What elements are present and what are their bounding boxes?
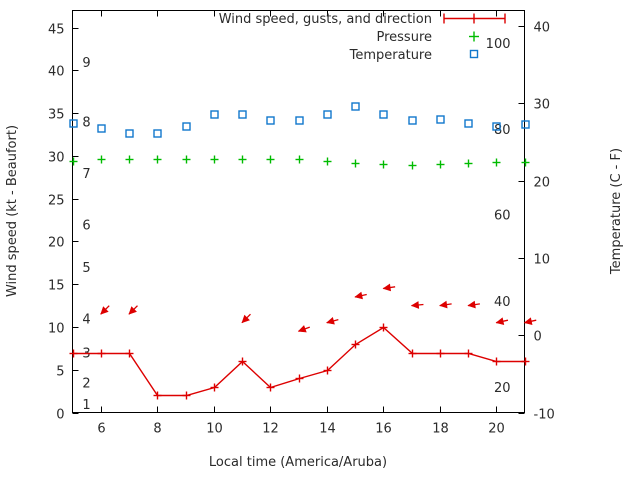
x-axis-title: Local time (America/Aruba) [209,455,387,470]
x-tick-label: 10 [206,422,223,437]
wind-speed-point [296,375,304,383]
fahrenheit-label: 40 [494,295,511,310]
wind-speed-series [70,324,530,400]
pressure-point [465,160,473,168]
wind-speed-point [465,350,473,358]
wind-direction-arrow [355,292,367,299]
fahrenheit-label: 100 [486,37,511,52]
temperature-point [98,125,105,132]
temperature-point [352,103,359,110]
y-left-tick-label: 35 [48,108,65,123]
beaufort-label: 6 [82,218,90,233]
beaufort-label: 2 [82,377,90,392]
temperature-point [183,123,190,130]
x-tick-label: 8 [153,422,161,437]
temperature-point [239,111,246,118]
temperature-point [154,130,161,137]
x-axis-ticks: 68101214161820 [97,11,504,437]
temperature-point [409,117,416,124]
temperature-point [126,130,133,137]
y-left-axis-ticks: 051015202530354045 [48,23,79,423]
pressure-point [126,156,134,164]
y-left-tick-label: 10 [48,322,65,337]
x-tick-label: 12 [262,422,279,437]
wind-speed-point [126,350,134,358]
pressure-point [183,156,191,164]
pressure-point [380,161,388,169]
y-right-tick-label: 10 [534,253,551,268]
beaufort-scale-labels: 123456789 [82,56,90,413]
wind-speed-point [154,392,162,400]
x-tick-label: 6 [97,422,105,437]
pressure-point [493,159,501,167]
wind-direction-arrow [412,302,424,309]
wind-direction-arrow [242,314,250,322]
beaufort-label: 9 [82,56,90,71]
wind-direction-arrow [468,301,480,308]
wind-direction-arrow [299,326,310,332]
pressure-point [409,162,417,170]
y-left-tick-label: 15 [48,279,65,294]
legend-marker-temperature [471,51,478,58]
y-left-tick-label: 0 [56,408,64,423]
wind-direction-arrow [129,306,137,314]
temperature-point [211,111,218,118]
wind-speed-point [70,350,78,358]
pressure-point [522,159,530,167]
x-tick-label: 20 [488,422,505,437]
pressure-point [352,160,360,168]
y-left-tick-label: 45 [48,23,65,38]
y-left-tick-label: 40 [48,65,65,80]
beaufort-label: 4 [82,312,90,327]
wind-speed-line [74,328,526,396]
beaufort-label: 7 [82,167,90,182]
temperature-point [267,117,274,124]
fahrenheit-label: 20 [494,381,511,396]
temperature-point [465,120,472,127]
x-tick-label: 14 [319,422,336,437]
y-left-tick-label: 30 [48,151,65,166]
pressure-point [296,156,304,164]
wind-speed-point [98,350,106,358]
wind-direction-arrow [496,318,508,325]
wind-direction-arrow [101,306,109,314]
temperature-point [324,111,331,118]
pressure-point [211,156,219,164]
temperature-point [296,117,303,124]
y-left-tick-label: 25 [48,194,65,209]
legend: Wind speed, gusts, and direction Pressur… [219,12,505,63]
wind-direction-arrow [525,318,537,325]
wind-speed-point [183,392,191,400]
legend-label-temperature: Temperature [349,48,432,63]
y-right-axis-title: Temperature (C - F) [609,148,624,275]
y-right-tick-label: 0 [534,330,542,345]
y-right-tick-label: 30 [534,98,551,113]
legend-marker-pressure [469,32,479,42]
y-right-tick-label: -10 [534,408,555,423]
pressure-point [154,156,162,164]
wind-direction-arrows [101,284,536,332]
legend-marker-wind [444,14,505,24]
y-right-tick-label: 20 [534,176,551,191]
pressure-point [70,158,78,166]
wind-direction-arrow [440,301,452,308]
temperature-series [70,103,529,137]
y-left-axis-title: Wind speed (kt - Beaufort) [5,125,20,297]
wind-direction-arrow [327,318,339,325]
beaufort-label: 5 [82,261,90,276]
pressure-point [98,156,106,164]
legend-label-pressure: Pressure [376,30,432,45]
pressure-series [70,156,530,170]
pressure-point [324,158,332,166]
fahrenheit-scale-labels: 20406080100 [486,37,511,396]
beaufort-label: 1 [82,398,90,413]
wind-speed-point [493,358,501,366]
weather-chart: 68101214161820 051015202530354045 -10010… [0,0,640,480]
legend-label-wind: Wind speed, gusts, and direction [219,12,432,27]
temperature-point [437,116,444,123]
fahrenheit-label: 60 [494,209,511,224]
x-tick-label: 16 [375,422,392,437]
wind-speed-point [437,350,445,358]
y-right-tick-label: 40 [534,21,551,36]
y-left-tick-label: 20 [48,236,65,251]
chart-canvas: 68101214161820 051015202530354045 -10010… [0,0,640,480]
plot-frame [73,11,525,413]
temperature-point [522,121,529,128]
temperature-point [380,111,387,118]
y-left-tick-label: 5 [56,365,64,380]
x-tick-label: 18 [432,422,449,437]
wind-direction-arrow [383,284,395,291]
temperature-point [70,120,77,127]
pressure-point [437,161,445,169]
wind-speed-point [522,358,530,366]
pressure-point [267,156,275,164]
beaufort-label: 8 [82,116,90,131]
pressure-point [239,156,247,164]
